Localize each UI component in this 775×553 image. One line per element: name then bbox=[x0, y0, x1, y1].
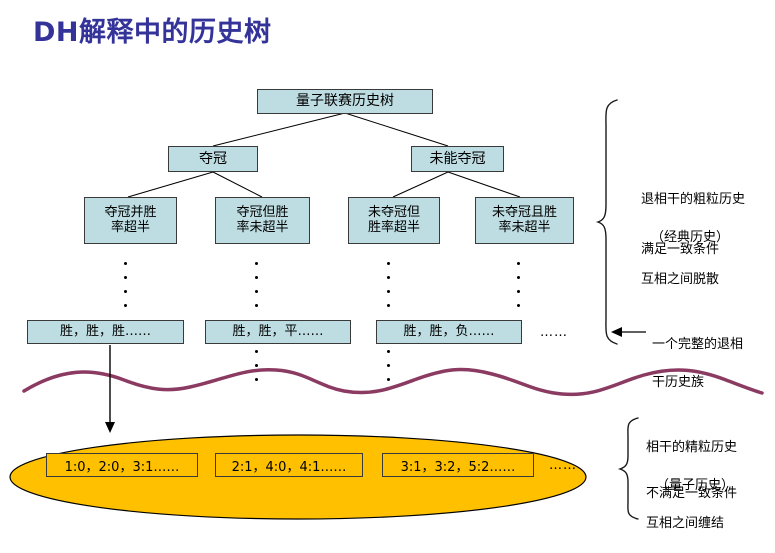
annotation-family-line1: 一个完整的退相 bbox=[652, 336, 743, 355]
annotation-fine-line1: 相干的精粒历史 bbox=[646, 439, 737, 458]
score-box-1[interactable]: 1:0，2:0，3:1…… bbox=[46, 453, 198, 477]
tree-node-nochampion-winrate-under-half[interactable]: 未夺冠且胜 率未超半 bbox=[475, 197, 574, 244]
score-box-3[interactable]: 3:1，3:2，5:2…… bbox=[382, 453, 534, 477]
connector-level2-level3 bbox=[128, 172, 520, 197]
vertical-ellipsis-4 bbox=[517, 262, 521, 318]
vertical-ellipsis-6 bbox=[387, 350, 391, 392]
vertical-ellipsis-5 bbox=[255, 350, 259, 392]
annotation-coarse-line4: 互相之间脱散 bbox=[641, 271, 719, 290]
tree-node-nochampion-winrate-over-half[interactable]: 未夺冠但 胜率超半 bbox=[348, 197, 440, 244]
score-more-ellipsis: …… bbox=[549, 458, 577, 473]
arrow-coarse-to-fine bbox=[105, 345, 115, 433]
tree-node-champion-winrate-over-half[interactable]: 夺冠并胜 率超半 bbox=[84, 197, 177, 244]
vertical-ellipsis-1 bbox=[124, 262, 128, 318]
tree-node-champion-winrate-under-half[interactable]: 夺冠但胜 率未超半 bbox=[215, 197, 310, 244]
score-box-2[interactable]: 2:1，4:0，4:1…… bbox=[215, 453, 363, 477]
sequence-box-2[interactable]: 胜，胜，平…… bbox=[205, 320, 351, 344]
annotation-coarse-decoherence: 互相之间脱散 bbox=[641, 252, 719, 309]
tree-node-champion[interactable]: 夺冠 bbox=[168, 146, 258, 172]
annotation-family-line2: 干历史族 bbox=[652, 374, 743, 393]
connector-root-level2 bbox=[213, 113, 448, 146]
quantum-ellipse bbox=[10, 435, 586, 519]
tree-node-root[interactable]: 量子联赛历史树 bbox=[257, 89, 433, 114]
vertical-ellipsis-2 bbox=[255, 262, 259, 318]
annotation-fine-entanglement: 互相之间缠结 bbox=[646, 496, 724, 553]
sequence-more-ellipsis: …… bbox=[540, 325, 568, 340]
slide-canvas: DH解释中的历史树 bbox=[0, 0, 775, 524]
vertical-ellipsis-3 bbox=[387, 262, 391, 318]
arrow-to-family bbox=[611, 327, 646, 337]
brace-top bbox=[598, 100, 617, 344]
sequence-box-1[interactable]: 胜，胜，胜…… bbox=[27, 320, 184, 344]
tree-node-no-champion[interactable]: 未能夺冠 bbox=[411, 146, 504, 172]
annotation-history-family: 一个完整的退相 干历史族 bbox=[652, 317, 743, 411]
annotation-coarse-line1: 退相干的粗粒历史 bbox=[641, 191, 745, 210]
sequence-box-3[interactable]: 胜，胜，负…… bbox=[376, 320, 522, 344]
brace-bottom bbox=[620, 418, 638, 519]
annotation-fine-line4: 互相之间缠结 bbox=[646, 515, 724, 534]
